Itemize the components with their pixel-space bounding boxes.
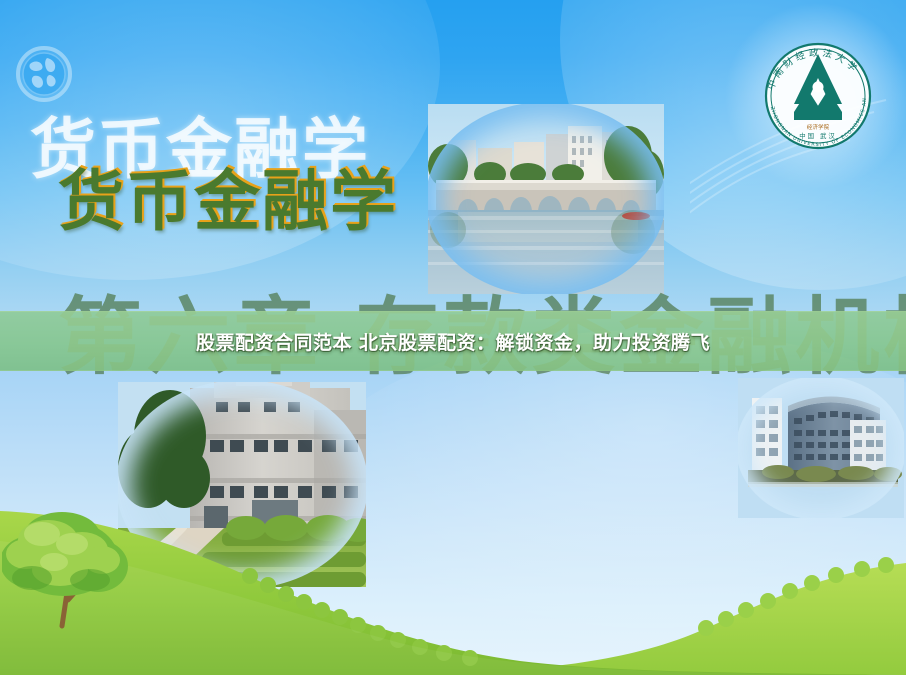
photo-campus-bridge [428,104,664,294]
globe-icon [14,44,74,104]
tree-icon [2,500,152,630]
svg-text:经济学院: 经济学院 [807,123,830,131]
university-seal-icon: 中南财经政法大学 ZHONGNAN UNIVERSITY OF ECONOMIC… [750,28,886,164]
photo-campus-bridge-image [428,104,664,294]
headline-container: 股票配资合同范本 北京股票配资：解锁资金，助力投资腾飞 [0,311,906,371]
page-title: 股票配资合同范本 北京股票配资：解锁资金，助力投资腾飞 [196,328,710,355]
banner-image: 货币金融学 货币金融学 中南财经政法大学 [0,0,906,675]
svg-text:中国 武汉: 中国 武汉 [799,131,837,140]
decorative-heading-main-layer: 货币金融学 [58,148,398,244]
decorative-heading: 货币金融学 货币金融学 [22,96,382,246]
